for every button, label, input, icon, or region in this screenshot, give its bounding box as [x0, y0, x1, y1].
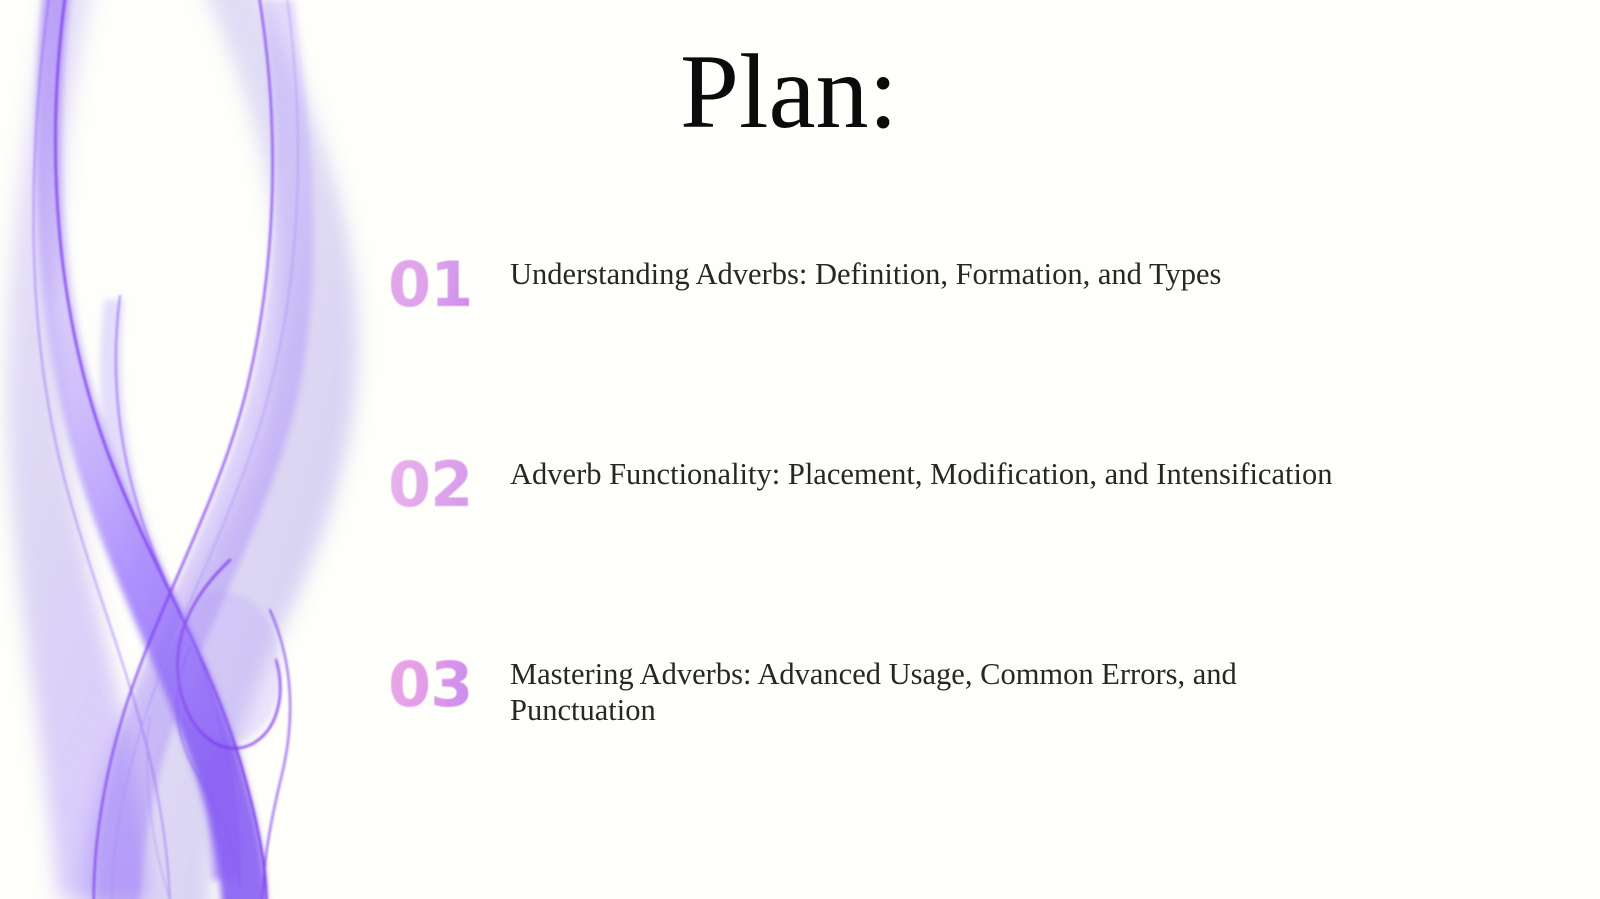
plan-list: 01 Understanding Adverbs: Definition, Fo…	[388, 248, 1388, 848]
slide-root: Plan: 01 Understanding Adverbs: Definiti…	[0, 0, 1600, 899]
list-item-label: Adverb Functionality: Placement, Modific…	[510, 448, 1345, 493]
list-item: 03 Mastering Adverbs: Advanced Usage, Co…	[388, 648, 1388, 848]
ribbon-knot	[172, 590, 281, 742]
list-item-label: Mastering Adverbs: Advanced Usage, Commo…	[510, 648, 1345, 729]
list-item: 02 Adverb Functionality: Placement, Modi…	[388, 448, 1388, 648]
list-item-number: 02	[388, 448, 510, 515]
page-title: Plan:	[0, 34, 1600, 151]
list-item-label: Understanding Adverbs: Definition, Forma…	[510, 248, 1345, 293]
list-item-number: 03	[388, 648, 510, 715]
list-item: 01 Understanding Adverbs: Definition, Fo…	[388, 248, 1388, 448]
list-item-number: 01	[388, 248, 510, 315]
